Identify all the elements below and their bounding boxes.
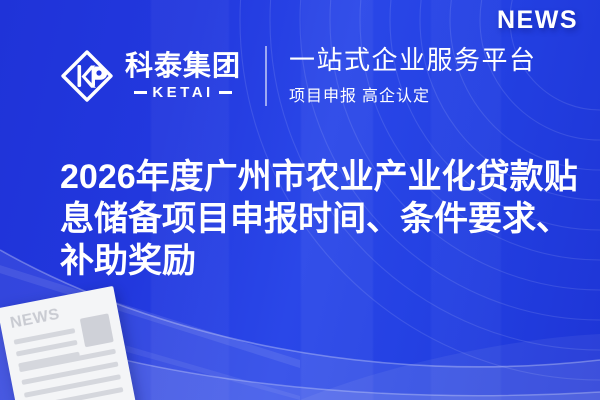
page-title: 2026年度广州市农业产业化贷款贴息储备项目申报时间、条件要求、补助奖励	[60, 156, 580, 282]
tagline-primary: 一站式企业服务平台	[289, 46, 537, 76]
brand-name-cn: 科泰集团	[125, 52, 241, 80]
tagline-block: 一站式企业服务平台 项目申报 高企认定	[289, 46, 537, 106]
news-banner: NEWS 科泰集团	[0, 0, 600, 400]
newspaper-illustration: NEWS	[0, 286, 137, 400]
brand-wordmark: 科泰集团 KETAI	[125, 52, 241, 100]
brand-name-en-row: KETAI	[134, 85, 231, 100]
brand-name-en: KETAI	[152, 85, 213, 100]
image-placeholder-icon	[80, 313, 114, 347]
dash-left-icon	[134, 91, 147, 94]
news-badge: NEWS	[497, 6, 578, 35]
banner-header: 科泰集团 KETAI 一站式企业服务平台 项目申报 高企认定	[58, 40, 580, 112]
brand-logo[interactable]: 科泰集团 KETAI	[58, 47, 241, 105]
ketai-kp-diamond-icon	[58, 47, 116, 105]
tagline-secondary: 项目申报 高企认定	[289, 82, 537, 106]
dash-right-icon	[219, 91, 232, 94]
header-divider	[265, 46, 267, 106]
